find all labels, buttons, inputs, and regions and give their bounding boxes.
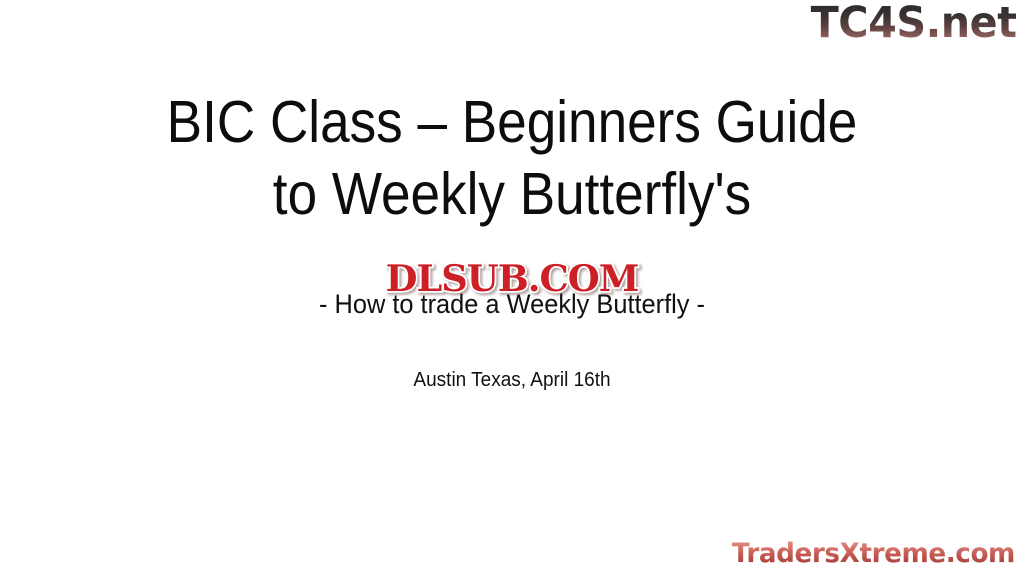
tc4s-logo: TC4S.net <box>810 2 1016 45</box>
page-title: BIC Class – Beginners Guide to Weekly Bu… <box>0 86 1024 230</box>
title-line-1: BIC Class – Beginners Guide <box>51 86 973 158</box>
date-location-text: Austin Texas, April 16th <box>26 367 999 393</box>
title-line-2: to Weekly Butterfly's <box>51 158 973 230</box>
tradersxtreme-logo: TradersXtreme.com <box>732 538 1015 570</box>
presentation-slide: TC4S.net BIC Class – Beginners Guide to … <box>0 0 1024 576</box>
dlsub-watermark: DLSUB.COM <box>386 258 639 300</box>
